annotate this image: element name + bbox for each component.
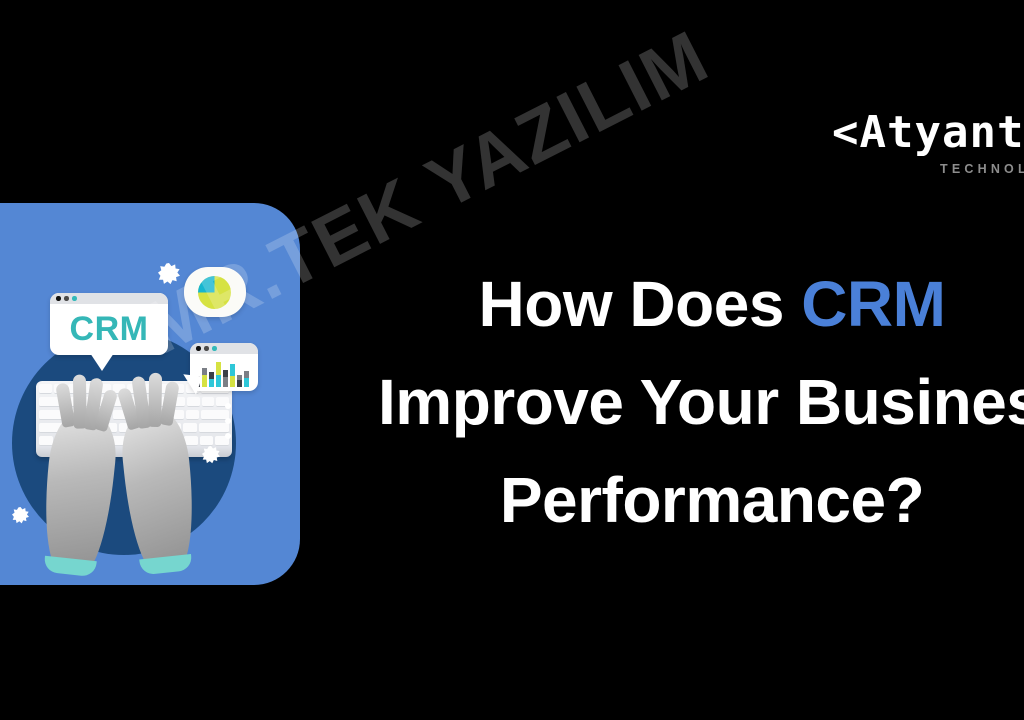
slide-canvas: <Atyanti TECHNOL How Does CRM Improve Yo… [0, 0, 1024, 720]
brand-logo: <Atyanti TECHNOL [832, 110, 1024, 176]
headline-line-1-plain: How Does [479, 268, 802, 340]
window-dot-icon [204, 346, 209, 351]
bubble-titlebar [50, 293, 168, 304]
crm-bubble-label: CRM [50, 304, 168, 354]
pie-chart-card [184, 267, 246, 317]
headline-line-3: Performance? [378, 451, 1024, 549]
window-dot-icon [72, 296, 77, 301]
bubble-tail [90, 353, 114, 371]
page-title: How Does CRM Improve Your Business Perfo… [378, 255, 1024, 549]
star-burst-icon [158, 263, 180, 285]
crm-speech-bubble: CRM [50, 293, 168, 355]
pie-slice-graphic [184, 267, 246, 317]
dot-icon [225, 403, 231, 409]
bubble-titlebar [190, 343, 258, 354]
sleeve-cuff [139, 554, 192, 575]
window-dot-icon [64, 296, 69, 301]
dot-icon [225, 433, 231, 439]
window-dot-icon [212, 346, 217, 351]
headline-accent-crm: CRM [801, 268, 945, 340]
dot-icon [225, 418, 231, 424]
illustration-card: CRM [0, 203, 300, 585]
headline-line-2: Improve Your Business [378, 353, 1024, 451]
window-dot-icon [56, 296, 61, 301]
logo-wordmark: <Atyanti [832, 110, 1024, 156]
window-dot-icon [196, 346, 201, 351]
logo-tagline: TECHNOL [940, 162, 1024, 176]
headline-line-1: How Does CRM [378, 255, 1024, 353]
vertical-dots-decoration [225, 403, 231, 448]
star-burst-icon [12, 507, 29, 524]
sleeve-cuff [43, 556, 96, 577]
